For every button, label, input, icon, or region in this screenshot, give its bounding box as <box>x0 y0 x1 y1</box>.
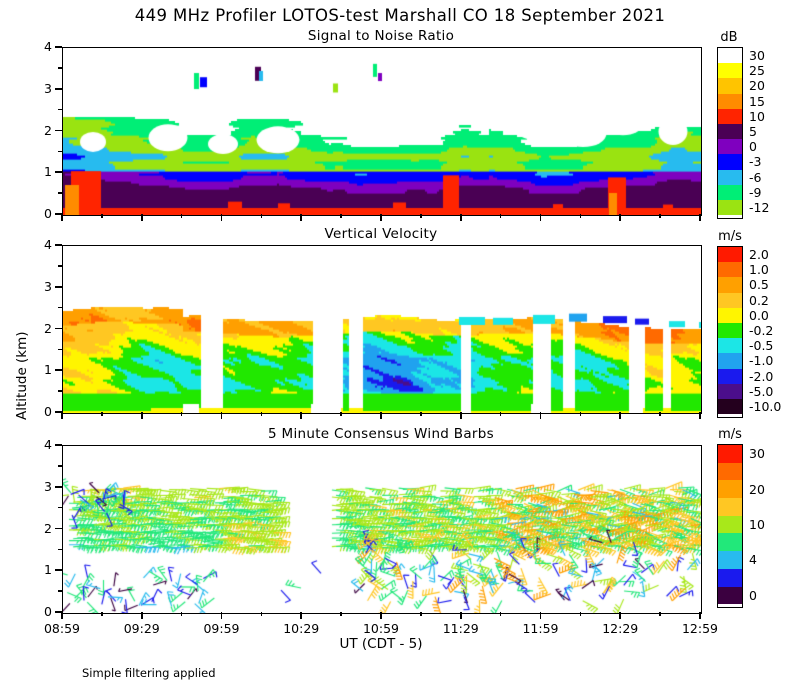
x-tick <box>380 412 382 419</box>
y-tick-label: 3 <box>26 279 52 294</box>
x-tick-label: 11:29 <box>433 621 489 636</box>
colorbar-swatch <box>718 551 742 569</box>
colorbar-tick-label: 0.2 <box>749 293 769 308</box>
colorbar-swatch <box>718 94 742 109</box>
x-tick <box>340 612 342 616</box>
x-tick <box>101 412 103 416</box>
x-tick <box>141 412 143 419</box>
colorbar-tick-label: 20 <box>749 482 765 497</box>
colorbar-swatch <box>718 63 742 78</box>
x-tick <box>540 612 542 619</box>
y-tick <box>55 130 62 132</box>
x-tick <box>300 412 302 419</box>
x-tick <box>420 214 422 218</box>
x-tick <box>460 214 462 221</box>
x-tick-label: 11:59 <box>513 621 569 636</box>
x-tick <box>101 214 103 218</box>
colorbar-swatch <box>718 109 742 124</box>
colorbar-swatch <box>718 262 742 277</box>
colorbar-vv-swatches <box>717 246 743 418</box>
y-tick <box>55 369 62 371</box>
y-tick <box>58 151 62 153</box>
colorbar-tick-label: 20 <box>749 78 765 93</box>
x-tick-label: 12:59 <box>672 621 728 636</box>
y-tick <box>58 349 62 351</box>
colorbar-tick-label: 10 <box>749 109 765 124</box>
colorbar-tick-label: -2.0 <box>749 369 773 384</box>
colorbar-tick-label: 4 <box>749 552 757 567</box>
colorbar-tick-label: 5 <box>749 124 757 139</box>
y-tick-label: 4 <box>26 237 52 252</box>
colorbar-tick-label: 2.0 <box>749 247 769 262</box>
y-tick <box>58 67 62 69</box>
colorbar-swatch <box>718 569 742 587</box>
colorbar-tick-label: 15 <box>749 94 765 109</box>
x-tick <box>420 612 422 616</box>
y-tick <box>55 171 62 173</box>
colorbar-tick-label: -6 <box>749 170 761 185</box>
y-tick-label: 4 <box>26 39 52 54</box>
plot-panel-snr <box>62 47 702 216</box>
x-tick <box>181 214 183 218</box>
x-tick <box>61 412 63 419</box>
y-tick <box>58 507 62 509</box>
x-tick <box>699 612 701 619</box>
y-tick <box>55 244 62 246</box>
x-tick <box>300 214 302 221</box>
panel-title-vertical-velocity: Vertical Velocity <box>62 226 700 242</box>
x-tick <box>580 412 582 416</box>
x-tick <box>420 412 422 416</box>
y-tick <box>55 46 62 48</box>
x-tick <box>221 412 223 419</box>
colorbar-tick-label: -0.2 <box>749 323 773 338</box>
x-tick-label: 12:29 <box>592 621 648 636</box>
y-tick <box>55 88 62 90</box>
x-tick <box>221 612 223 619</box>
colorbar-tick-label: 0 <box>749 588 757 603</box>
colorbar-snr-swatches <box>717 47 743 219</box>
colorbar-swatch <box>718 78 742 93</box>
x-axis-label: UT (CDT - 5) <box>62 636 700 652</box>
y-tick <box>58 109 62 111</box>
y-tick <box>58 265 62 267</box>
y-tick <box>58 590 62 592</box>
x-tick-label: 08:59 <box>34 621 90 636</box>
colorbar-swatch <box>718 463 742 481</box>
x-tick <box>580 612 582 616</box>
x-tick <box>540 412 542 419</box>
x-tick <box>540 214 542 221</box>
colorbar-swatch <box>718 277 742 292</box>
y-tick-label: 3 <box>26 81 52 96</box>
y-tick <box>58 465 62 467</box>
panel-title-wind-barbs: 5 Minute Consensus Wind Barbs <box>62 426 700 442</box>
y-tick-label: 4 <box>26 437 52 452</box>
colorbar-swatch <box>718 308 742 323</box>
x-tick <box>500 412 502 416</box>
colorbar-swatch <box>718 170 742 185</box>
x-tick <box>300 612 302 619</box>
x-tick <box>181 412 183 416</box>
colorbar-tick-label: -12 <box>749 200 769 215</box>
colorbar-swatch <box>718 200 742 215</box>
x-tick <box>380 214 382 221</box>
colorbar-swatch <box>718 353 742 368</box>
x-tick <box>141 214 143 221</box>
colorbar-swatch <box>718 498 742 516</box>
x-tick <box>619 412 621 419</box>
x-tick <box>221 214 223 221</box>
colorbar-swatch <box>718 124 742 139</box>
x-tick <box>181 612 183 616</box>
y-tick-label: 3 <box>26 479 52 494</box>
x-tick <box>500 214 502 218</box>
x-tick <box>380 612 382 619</box>
x-tick-label: 09:29 <box>114 621 170 636</box>
y-axis-label: Altitude (km) <box>14 331 30 420</box>
x-tick <box>699 214 701 221</box>
plot-panel-vertical-velocity <box>62 245 702 414</box>
y-tick <box>58 390 62 392</box>
colorbar-tick-label: -3 <box>749 154 761 169</box>
y-tick-label: 2 <box>26 521 52 536</box>
x-tick <box>619 214 621 221</box>
colorbar-tick-label: 1.0 <box>749 262 769 277</box>
x-tick <box>101 612 103 616</box>
panel-title-snr: Signal to Noise Ratio <box>62 28 700 44</box>
y-tick <box>55 286 62 288</box>
x-tick <box>580 214 582 218</box>
wind-barbs-canvas <box>63 446 701 613</box>
x-tick <box>460 412 462 419</box>
y-tick-label: 0 <box>26 206 52 221</box>
plot-panel-wind-barbs <box>62 445 702 614</box>
x-tick <box>619 612 621 619</box>
x-tick <box>659 214 661 218</box>
x-tick <box>261 214 263 218</box>
colorbar-swatch <box>718 185 742 200</box>
colorbar-snr-unit: dB <box>712 30 746 45</box>
colorbar-wb-swatches <box>717 444 743 608</box>
page-title: 449 MHz Profiler LOTOS-test Marshall CO … <box>0 6 800 25</box>
colorbar-swatch <box>718 48 742 63</box>
footnote: Simple filtering applied <box>82 666 216 680</box>
y-tick <box>55 328 62 330</box>
y-tick <box>55 528 62 530</box>
colorbar-tick-label: 30 <box>749 48 765 63</box>
x-tick <box>659 612 661 616</box>
colorbar-tick-label: 25 <box>749 63 765 78</box>
x-tick <box>659 412 661 416</box>
colorbar-swatch <box>718 369 742 384</box>
colorbar-swatch <box>718 293 742 308</box>
x-tick <box>261 412 263 416</box>
colorbar-swatch <box>718 516 742 534</box>
y-tick <box>58 192 62 194</box>
y-tick <box>58 549 62 551</box>
colorbar-swatch <box>718 384 742 399</box>
snr-heatmap-canvas <box>63 48 701 215</box>
colorbar-tick-label: -9 <box>749 185 761 200</box>
x-tick-label: 10:29 <box>273 621 329 636</box>
x-tick <box>500 612 502 616</box>
colorbar-tick-label: -0.5 <box>749 338 773 353</box>
colorbar-tick-label: 30 <box>749 446 765 461</box>
colorbar-tick-label: 0.0 <box>749 308 769 323</box>
colorbar-swatch <box>718 480 742 498</box>
colorbar-swatch <box>718 323 742 338</box>
x-tick <box>261 612 263 616</box>
colorbar-tick-label: 0.5 <box>749 277 769 292</box>
colorbar-wb-unit: m/s <box>710 427 750 442</box>
colorbar-swatch <box>718 587 742 605</box>
y-tick-label: 0 <box>26 604 52 619</box>
x-tick <box>340 412 342 416</box>
x-tick-label: 10:59 <box>353 621 409 636</box>
x-tick <box>61 214 63 221</box>
y-tick-label: 1 <box>26 562 52 577</box>
x-tick <box>61 612 63 619</box>
vertical-velocity-heatmap-canvas <box>63 246 701 413</box>
y-tick <box>58 307 62 309</box>
x-tick <box>460 612 462 619</box>
colorbar-tick-label: -10.0 <box>749 399 781 414</box>
colorbar-swatch <box>718 154 742 169</box>
colorbar-swatch <box>718 338 742 353</box>
colorbar-tick-label: 0 <box>749 139 757 154</box>
colorbar-swatch <box>718 445 742 463</box>
colorbar-swatch <box>718 247 742 262</box>
y-tick <box>55 486 62 488</box>
x-tick-label: 09:59 <box>194 621 250 636</box>
colorbar-swatch <box>718 533 742 551</box>
colorbar-tick-label: -5.0 <box>749 384 773 399</box>
y-tick-label: 1 <box>26 164 52 179</box>
colorbar-tick-label: 10 <box>749 517 765 532</box>
y-tick-label: 2 <box>26 123 52 138</box>
colorbar-tick-label: -1.0 <box>749 353 773 368</box>
colorbar-vv-unit: m/s <box>710 229 750 244</box>
x-tick <box>699 412 701 419</box>
y-tick <box>55 444 62 446</box>
x-tick <box>340 214 342 218</box>
y-tick <box>55 569 62 571</box>
colorbar-swatch <box>718 139 742 154</box>
colorbar-swatch <box>718 399 742 414</box>
x-tick <box>141 612 143 619</box>
